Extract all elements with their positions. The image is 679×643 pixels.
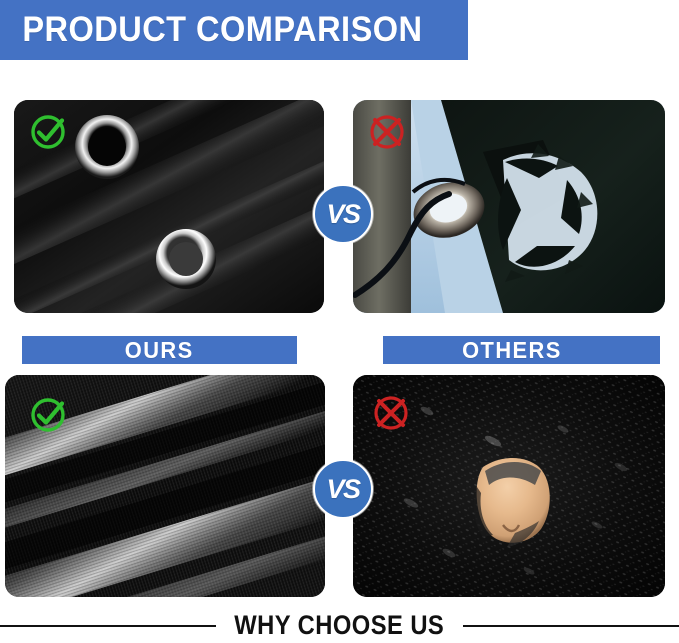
panel-others-torn-grommet [353, 100, 665, 313]
footer-rule-right [463, 625, 679, 627]
footer-rule-left [0, 625, 216, 627]
cross-circle-icon [371, 393, 411, 433]
check-circle-icon [28, 112, 68, 152]
vs-badge-top: VS [313, 184, 373, 244]
check-circle-icon [28, 395, 68, 435]
label-others-text: OTHERS [462, 337, 562, 364]
page-title: PRODUCT COMPARISON [0, 10, 423, 50]
label-ours-text: OURS [125, 337, 194, 364]
footer-title: WHY CHOOSE US [231, 610, 448, 641]
panel-others-punctured [353, 375, 665, 597]
header-banner: PRODUCT COMPARISON [0, 0, 468, 60]
panel-ours-grommets [14, 100, 324, 313]
label-bar-ours: OURS [22, 336, 297, 364]
panel-ours-fabric [5, 375, 325, 597]
label-bar-others: OTHERS [383, 336, 660, 364]
cross-circle-icon [367, 112, 407, 152]
vs-label: VS [326, 476, 359, 503]
footer: WHY CHOOSE US [0, 608, 679, 643]
vs-badge-bottom: VS [313, 459, 373, 519]
vs-label: VS [326, 201, 359, 228]
